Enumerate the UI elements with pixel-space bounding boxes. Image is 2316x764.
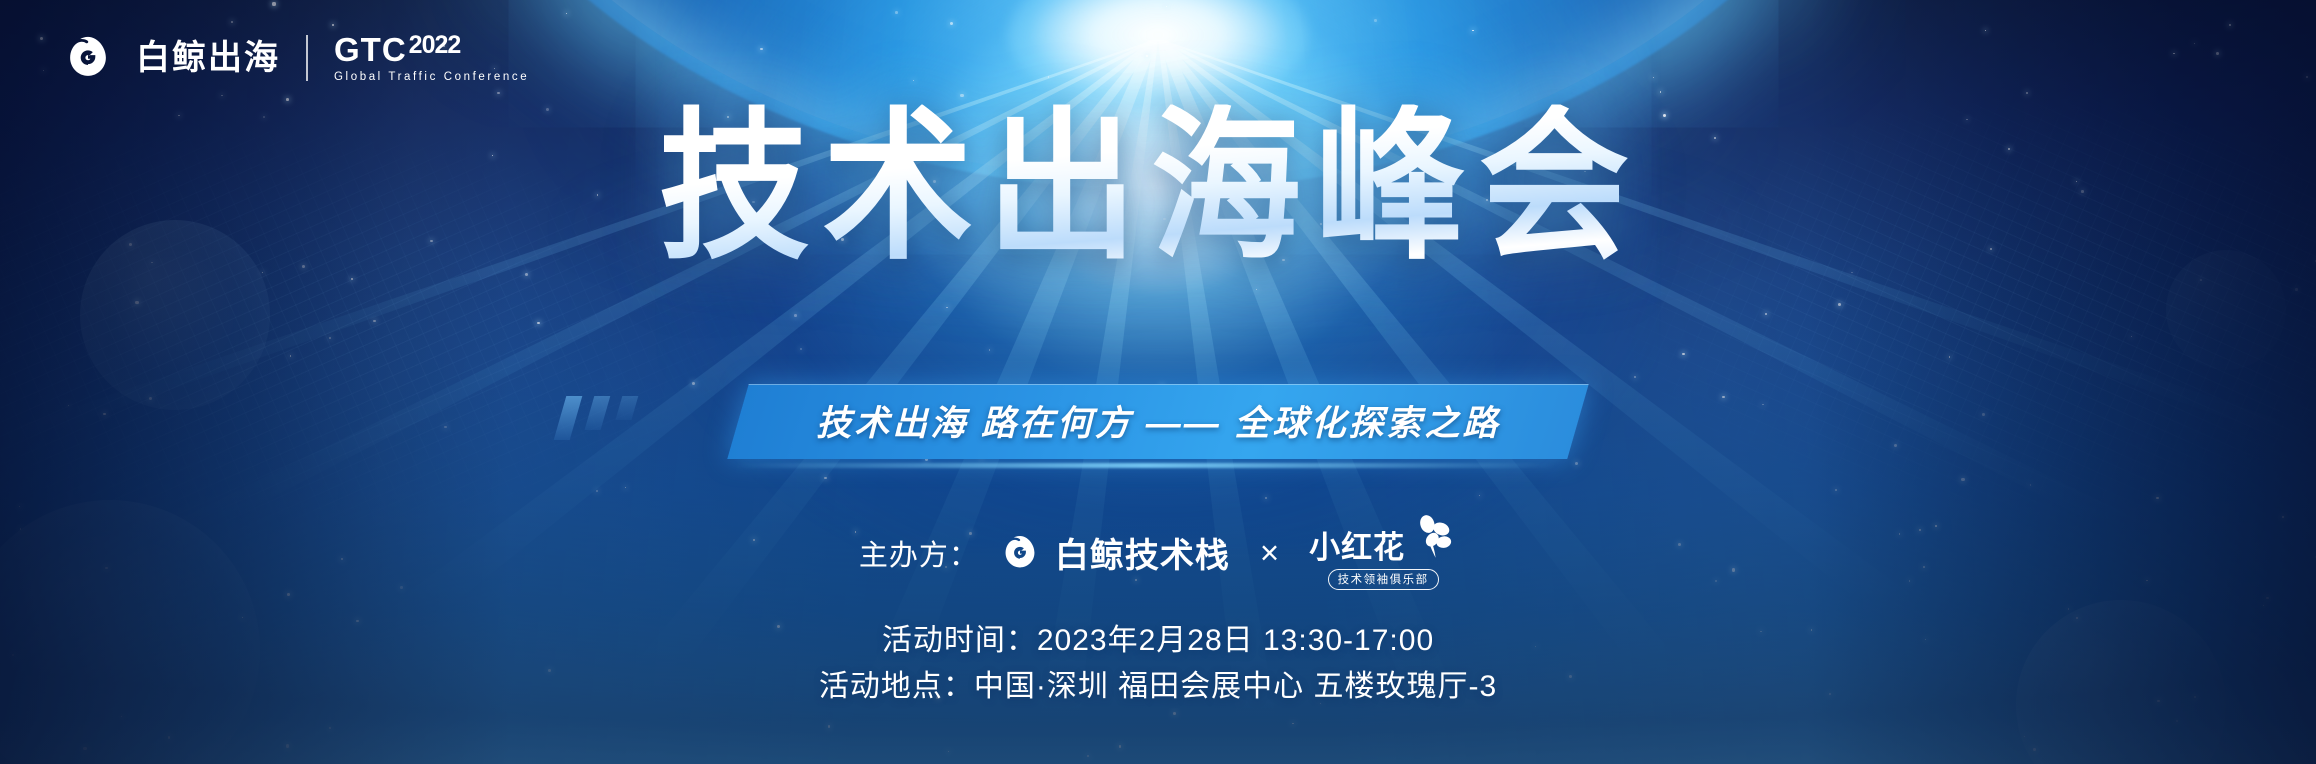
event-time: 活动时间：2023年2月28日 13:30-17:00 — [0, 618, 2316, 664]
organizer-label: 主办方： — [859, 532, 979, 574]
flower-logo-row: 小红花 — [1309, 515, 1457, 567]
organizer-primary-logo: 白鲸技术栈 — [999, 528, 1230, 577]
organizer-secondary-logo: 小红花 技术领袖俱乐部 — [1309, 515, 1457, 590]
organizer-secondary-tagline: 技术领袖俱乐部 — [1328, 569, 1439, 590]
subtitle-text: 技术出海 路在何方 —— 全球化探索之路 — [816, 395, 1500, 446]
organizer-secondary-name: 小红花 — [1309, 522, 1405, 567]
main-title-area: 技术出海峰会 — [0, 112, 2316, 262]
gtc-year: 2022 — [409, 33, 461, 58]
gtc-title-row: GTC 2022 — [334, 33, 529, 66]
organizer-connector: × — [1260, 534, 1279, 572]
whale-g-icon — [999, 532, 1041, 574]
whale-g-icon — [62, 32, 114, 84]
gtc-text: GTC — [334, 33, 407, 66]
brand-logo-bar: 白鲸出海 GTC 2022 Global Traffic Conference — [62, 32, 529, 84]
logo-divider — [306, 35, 308, 81]
gtc-logo-block: GTC 2022 Global Traffic Conference — [334, 33, 529, 84]
page-title: 技术出海峰会 — [659, 105, 1657, 270]
event-info: 活动时间：2023年2月28日 13:30-17:00 活动地点：中国·深圳 福… — [0, 618, 2316, 709]
gtc-subtitle: Global Traffic Conference — [334, 72, 529, 84]
event-poster: 白鲸出海 GTC 2022 Global Traffic Conference … — [0, 0, 2316, 764]
flower-icon — [1401, 515, 1457, 561]
subtitle-ribbon: 技术出海 路在何方 —— 全球化探索之路 — [727, 384, 1589, 459]
subtitle-ribbon-area: 技术出海 路在何方 —— 全球化探索之路 — [0, 384, 2316, 459]
event-place: 活动地点：中国·深圳 福田会展中心 五楼玫瑰厅-3 — [0, 664, 2316, 710]
organizer-primary-name: 白鲸技术栈 — [1055, 528, 1230, 577]
organizer-row: 主办方： 白鲸技术栈 × 小红花 — [0, 515, 2316, 590]
brand-name-cn: 白鲸出海 — [136, 41, 280, 75]
